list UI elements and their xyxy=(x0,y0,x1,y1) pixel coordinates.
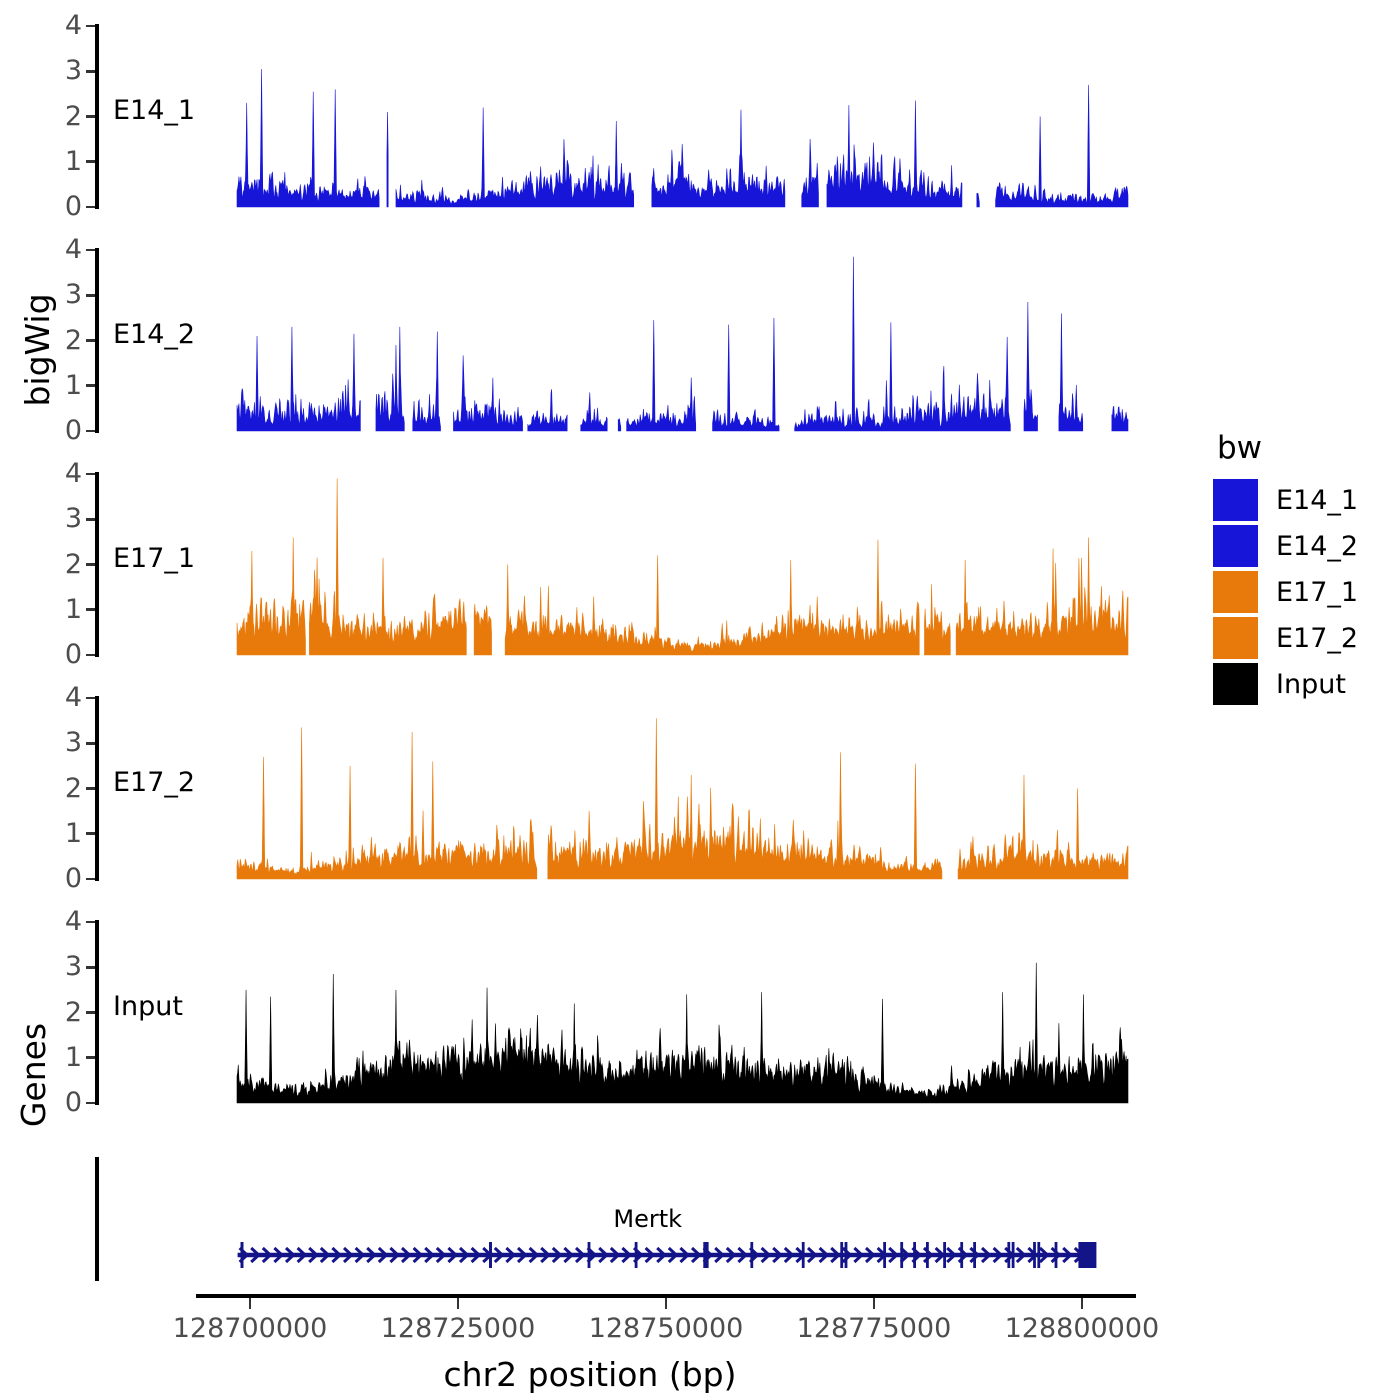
y-tick-mark xyxy=(86,384,95,387)
genes-panel: Mertk xyxy=(95,1157,1130,1281)
y-tick-mark xyxy=(86,473,95,476)
y-tick-label: 0 xyxy=(65,865,82,892)
gene-exon-mark xyxy=(943,1242,946,1268)
track-plot-area xyxy=(99,248,1130,433)
y-tick-mark xyxy=(86,206,95,209)
gene-exon-mark xyxy=(703,1242,706,1268)
y-tick-label: 0 xyxy=(65,1089,82,1116)
y-tick-mark xyxy=(86,115,95,118)
y-tick-mark xyxy=(86,878,95,881)
bigwig-panel-e14_1: 43210E14_1 xyxy=(95,24,1130,209)
gene-exon-mark xyxy=(926,1242,929,1268)
gene-exon-mark xyxy=(489,1242,492,1268)
y-tick-label: 4 xyxy=(65,460,82,487)
y-tick-label: 1 xyxy=(65,1044,82,1071)
y-tick-mark xyxy=(86,1056,95,1059)
track-plot-area xyxy=(99,472,1130,657)
y-tick-label: 4 xyxy=(65,908,82,935)
legend-item-label: E17_1 xyxy=(1276,577,1358,608)
gene-exon-mark xyxy=(802,1242,805,1268)
y-tick-mark xyxy=(86,654,95,657)
y-tick-mark xyxy=(86,70,95,73)
y-tick-mark xyxy=(86,832,95,835)
x-tick-label: 128725000 xyxy=(381,1313,536,1344)
legend-item-e14_1[interactable]: E14_1 xyxy=(1213,478,1358,522)
bigwig-panel-e14_2: 43210E14_2 xyxy=(95,248,1130,433)
y-tick-mark xyxy=(86,339,95,342)
y-tick-mark xyxy=(86,742,95,745)
legend: bw E14_1E14_2E17_1E17_2Input xyxy=(1213,430,1358,708)
y-tick-mark xyxy=(86,249,95,252)
y-tick-label: 4 xyxy=(65,12,82,39)
y-tick-mark xyxy=(86,966,95,969)
y-tick-label: 3 xyxy=(65,57,82,84)
x-tick-mark xyxy=(665,1298,668,1309)
x-tick-mark xyxy=(1081,1298,1084,1309)
y-tick-label: 2 xyxy=(65,551,82,578)
legend-color-swatch xyxy=(1213,525,1258,567)
y-tick-mark xyxy=(86,294,95,297)
y-tick-label: 3 xyxy=(65,953,82,980)
legend-color-swatch xyxy=(1213,617,1258,659)
gene-model-track xyxy=(99,1157,1130,1281)
y-tick-mark xyxy=(86,518,95,521)
legend-item-label: E17_2 xyxy=(1276,623,1358,654)
gene-exon-mark xyxy=(706,1242,709,1268)
y-tick-label: 3 xyxy=(65,729,82,756)
legend-item-label: Input xyxy=(1276,669,1346,700)
track-plot-area xyxy=(99,24,1130,209)
track-plot-area xyxy=(99,920,1130,1105)
coverage-area-e14_2 xyxy=(99,248,1130,433)
y-tick-label: 1 xyxy=(65,148,82,175)
gene-exon-mark xyxy=(1012,1242,1015,1268)
gene-exon-mark xyxy=(1007,1242,1010,1268)
gene-exon-mark xyxy=(900,1242,903,1268)
legend-item-label: E14_1 xyxy=(1276,485,1358,516)
genes-axis-title: Genes xyxy=(14,1000,54,1150)
x-tick-mark xyxy=(457,1298,460,1309)
legend-item-e17_1[interactable]: E17_1 xyxy=(1213,570,1358,614)
gene-exon-mark xyxy=(635,1242,638,1268)
y-tick-label: 0 xyxy=(65,193,82,220)
y-tick-label: 2 xyxy=(65,999,82,1026)
y-tick-mark xyxy=(86,25,95,28)
x-tick-label: 128800000 xyxy=(1005,1313,1160,1344)
gene-exon-mark xyxy=(883,1242,886,1268)
bigwig-panel-input: 43210Input xyxy=(95,920,1130,1105)
y-tick-mark xyxy=(86,787,95,790)
legend-color-swatch xyxy=(1213,479,1258,521)
y-tick-mark xyxy=(86,563,95,566)
legend-item-input[interactable]: Input xyxy=(1213,662,1358,706)
y-tick-mark xyxy=(86,697,95,700)
coverage-area-input xyxy=(99,920,1130,1105)
gene-exon-mark xyxy=(750,1242,753,1268)
gene-exon-mark xyxy=(845,1242,848,1268)
y-tick-label: 2 xyxy=(65,775,82,802)
gene-exon-mark xyxy=(913,1242,916,1268)
gene-exon-mark xyxy=(241,1242,244,1268)
y-tick-label: 1 xyxy=(65,596,82,623)
track-plot-area xyxy=(99,696,1130,881)
y-tick-mark xyxy=(86,1011,95,1014)
y-tick-mark xyxy=(86,430,95,433)
y-tick-label: 2 xyxy=(65,327,82,354)
gene-exon-mark xyxy=(960,1242,963,1268)
bigwig-panel-e17_2: 43210E17_2 xyxy=(95,696,1130,881)
y-tick-mark xyxy=(86,608,95,611)
gene-exon-mark xyxy=(973,1242,976,1268)
x-tick-mark xyxy=(249,1298,252,1309)
y-axis-title: bigWig xyxy=(18,230,58,470)
y-tick-label: 1 xyxy=(65,820,82,847)
x-tick-label: 128700000 xyxy=(173,1313,328,1344)
legend-item-e14_2[interactable]: E14_2 xyxy=(1213,524,1358,568)
y-tick-label: 3 xyxy=(65,281,82,308)
y-tick-label: 4 xyxy=(65,684,82,711)
y-tick-label: 2 xyxy=(65,103,82,130)
y-tick-mark xyxy=(86,1102,95,1105)
x-tick-label: 128750000 xyxy=(589,1313,744,1344)
y-tick-label: 4 xyxy=(65,236,82,263)
legend-item-label: E14_2 xyxy=(1276,531,1358,562)
gene-exon-mark xyxy=(840,1242,843,1268)
x-tick-label: 128775000 xyxy=(797,1313,952,1344)
gene-exon-mark xyxy=(1037,1242,1040,1268)
bigwig-panel-e17_1: 43210E17_1 xyxy=(95,472,1130,657)
gene-terminal-exon-block xyxy=(1078,1242,1096,1268)
gene-exon-mark xyxy=(1033,1242,1036,1268)
coverage-area-e17_2 xyxy=(99,696,1130,881)
coverage-area-e17_1 xyxy=(99,472,1130,657)
genome-browser-figure: bigWig Genes 43210E14_143210E14_243210E1… xyxy=(0,0,1400,1400)
gene-exon-mark xyxy=(588,1242,591,1268)
y-tick-mark xyxy=(86,921,95,924)
gene-exon-mark xyxy=(1055,1242,1058,1268)
y-tick-label: 3 xyxy=(65,505,82,532)
y-tick-label: 0 xyxy=(65,641,82,668)
x-axis-title: chr2 position (bp) xyxy=(0,1355,1180,1394)
legend-color-swatch xyxy=(1213,571,1258,613)
coverage-area-e14_1 xyxy=(99,24,1130,209)
legend-item-e17_2[interactable]: E17_2 xyxy=(1213,616,1358,660)
y-tick-mark xyxy=(86,160,95,163)
x-tick-mark xyxy=(873,1298,876,1309)
legend-items: E14_1E14_2E17_1E17_2Input xyxy=(1213,478,1358,706)
legend-color-swatch xyxy=(1213,663,1258,705)
y-tick-label: 1 xyxy=(65,372,82,399)
y-tick-label: 0 xyxy=(65,417,82,444)
legend-title: bw xyxy=(1217,430,1358,466)
